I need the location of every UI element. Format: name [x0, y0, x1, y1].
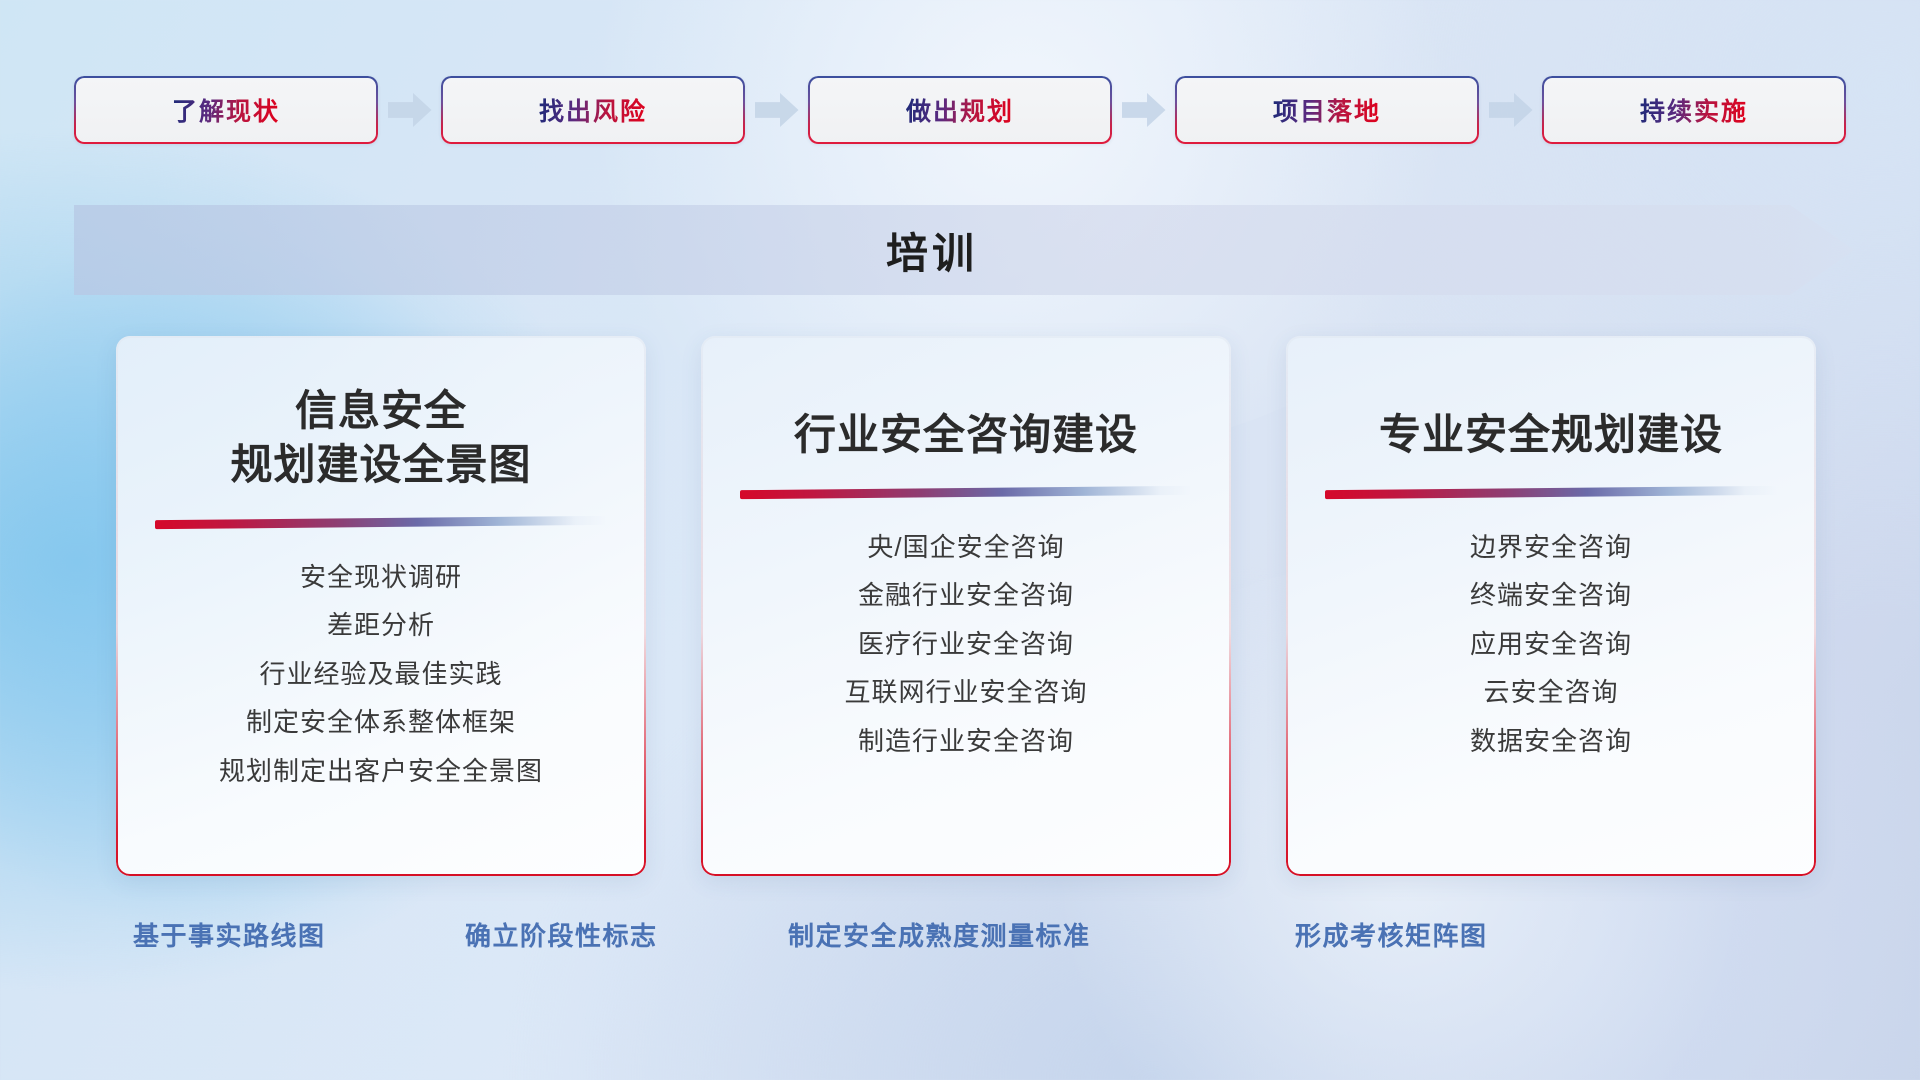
- list-item: 央/国企安全咨询: [844, 531, 1087, 564]
- card-divider: [155, 515, 607, 528]
- step-chip-0[interactable]: 了解现状: [74, 76, 378, 144]
- step-label: 项目落地: [1273, 92, 1381, 128]
- footnote-1: 确立阶段性标志: [465, 916, 658, 953]
- list-item: 金融行业安全咨询: [844, 579, 1087, 612]
- step-label: 了解现状: [172, 92, 280, 128]
- card-title: 信息安全 规划建设全景图: [230, 384, 531, 492]
- training-banner: 培训: [74, 205, 1854, 295]
- list-item: 医疗行业安全咨询: [844, 628, 1087, 661]
- card-information-security-blueprint[interactable]: 信息安全 规划建设全景图 安全现状调研 差距分析 行业经验及最佳实践 制定安全体…: [116, 336, 646, 876]
- footnote-row: 基于事实路线图 确立阶段性标志 制定安全成熟度测量标准 形成考核矩阵图: [0, 916, 1920, 964]
- footnote-2: 制定安全成熟度测量标准: [788, 916, 1091, 953]
- card-professional-security-planning[interactable]: 专业安全规划建设 边界安全咨询 终端安全咨询 应用安全咨询 云安全咨询 数据安全…: [1286, 336, 1816, 876]
- step-chip-3[interactable]: 项目落地: [1175, 76, 1479, 144]
- card-title: 专业安全规划建设: [1379, 408, 1723, 462]
- process-step-row: 了解现状 找出风险 做出规划 项目落地 持续实施: [74, 76, 1846, 144]
- card-row: 信息安全 规划建设全景图 安全现状调研 差距分析 行业经验及最佳实践 制定安全体…: [116, 336, 1816, 876]
- banner-arrow-tip-icon: [1790, 205, 1854, 295]
- list-item: 规划制定出客户安全全景图: [219, 755, 543, 788]
- footnote-0: 基于事实路线图: [133, 916, 326, 953]
- list-item: 数据安全咨询: [1470, 725, 1632, 758]
- card-industry-security-consulting[interactable]: 行业安全咨询建设 央/国企安全咨询 金融行业安全咨询 医疗行业安全咨询 互联网行…: [701, 336, 1231, 876]
- list-item: 行业经验及最佳实践: [219, 658, 543, 691]
- list-item: 应用安全咨询: [1470, 628, 1632, 661]
- arrow-right-icon: [755, 93, 799, 127]
- banner-title: 培训: [74, 205, 1790, 295]
- step-chip-2[interactable]: 做出规划: [808, 76, 1112, 144]
- list-item: 差距分析: [219, 609, 543, 642]
- list-item: 制造行业安全咨询: [844, 725, 1087, 758]
- arrow-right-icon: [1122, 93, 1166, 127]
- card-divider: [1325, 486, 1777, 499]
- card-item-list: 央/国企安全咨询 金融行业安全咨询 医疗行业安全咨询 互联网行业安全咨询 制造行…: [844, 531, 1087, 758]
- list-item: 互联网行业安全咨询: [844, 676, 1087, 709]
- list-item: 安全现状调研: [219, 561, 543, 594]
- step-label: 做出规划: [906, 92, 1014, 128]
- card-item-list: 边界安全咨询 终端安全咨询 应用安全咨询 云安全咨询 数据安全咨询: [1470, 531, 1632, 758]
- list-item: 制定安全体系整体框架: [219, 706, 543, 739]
- list-item: 边界安全咨询: [1470, 531, 1632, 564]
- card-divider: [740, 486, 1192, 499]
- step-label: 找出风险: [539, 92, 647, 128]
- step-chip-4[interactable]: 持续实施: [1542, 76, 1846, 144]
- arrow-right-icon: [388, 93, 432, 127]
- step-label: 持续实施: [1640, 92, 1748, 128]
- arrow-right-icon: [1489, 93, 1533, 127]
- card-item-list: 安全现状调研 差距分析 行业经验及最佳实践 制定安全体系整体框架 规划制定出客户…: [219, 561, 543, 788]
- list-item: 终端安全咨询: [1470, 579, 1632, 612]
- step-chip-1[interactable]: 找出风险: [441, 76, 745, 144]
- card-title: 行业安全咨询建设: [794, 408, 1138, 462]
- list-item: 云安全咨询: [1470, 676, 1632, 709]
- footnote-3: 形成考核矩阵图: [1295, 916, 1488, 953]
